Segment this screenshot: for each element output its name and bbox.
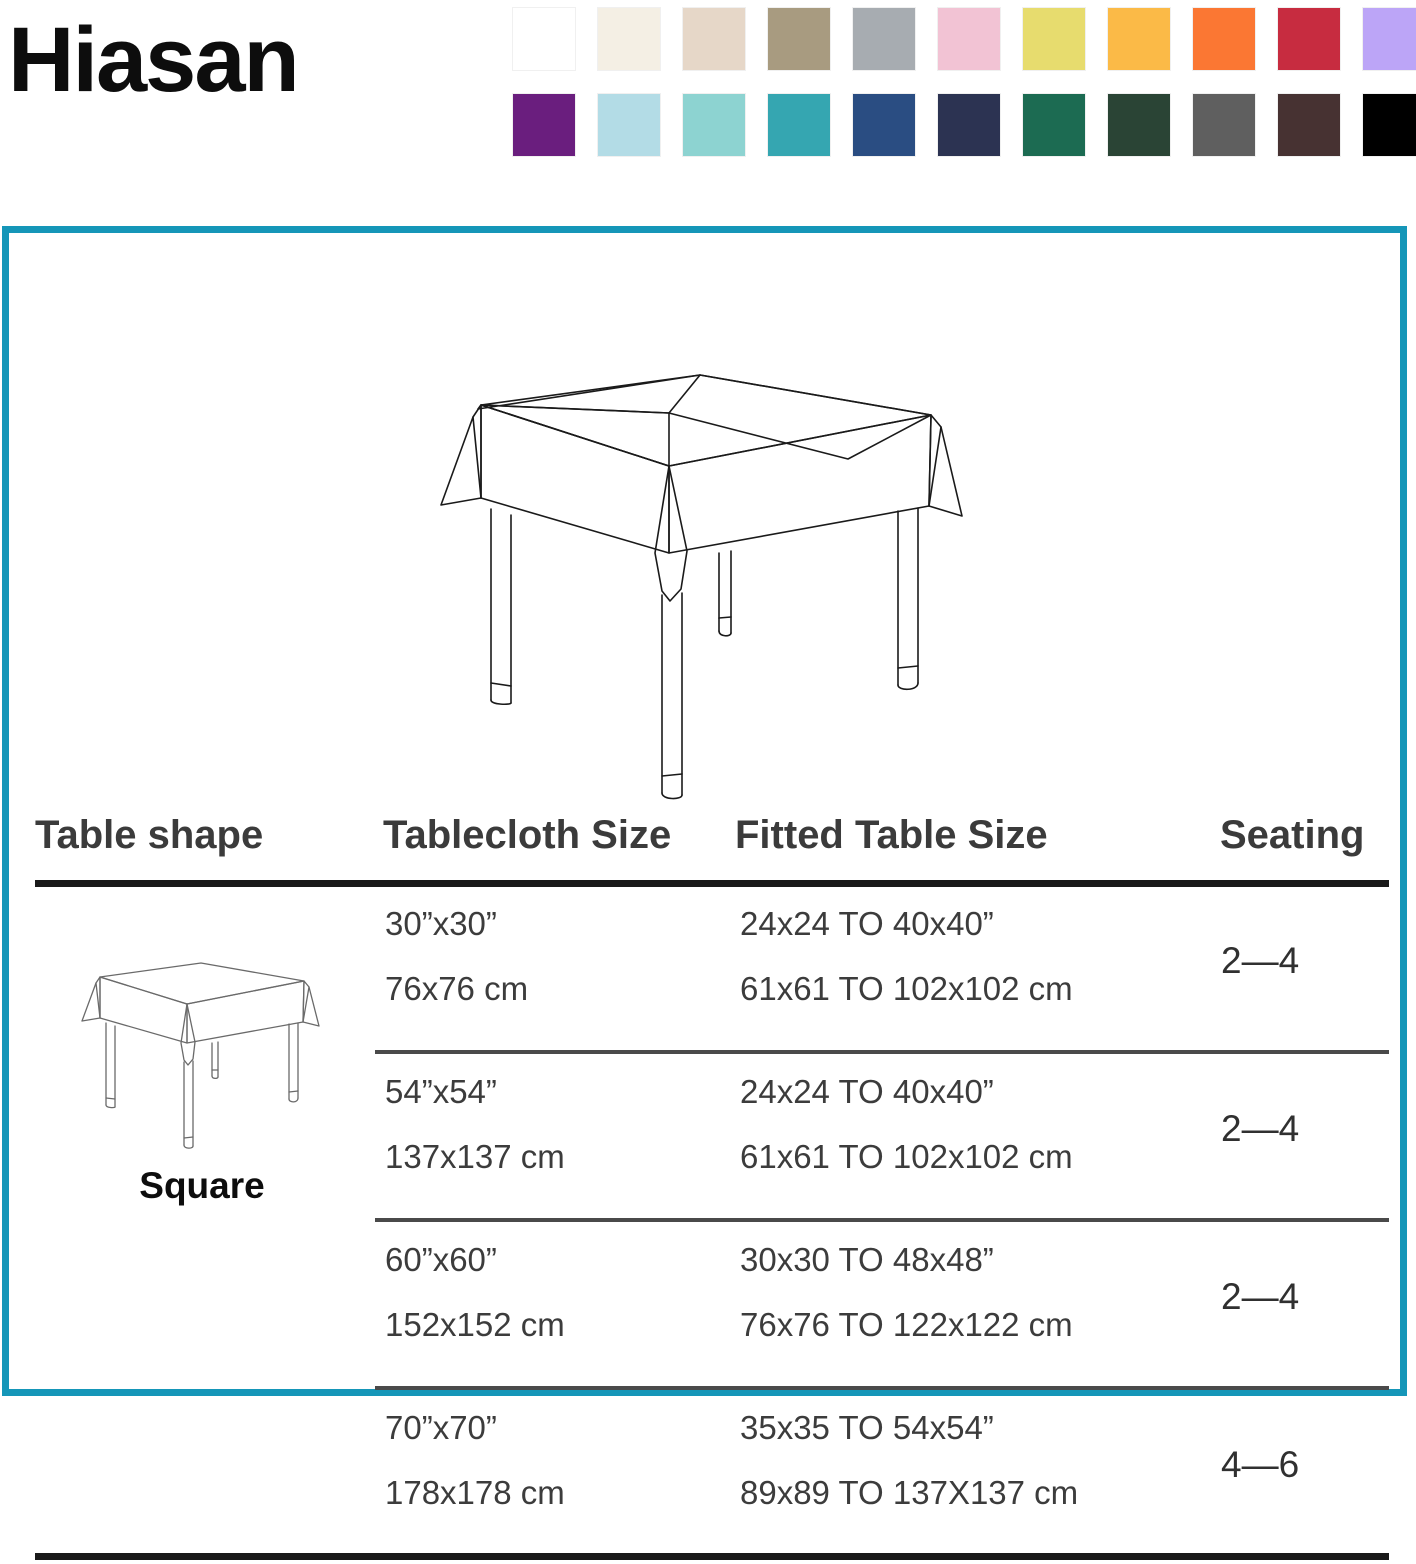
color-swatch-grid: [513, 8, 1393, 180]
table-row: 30”x30” 76x76 cm 24x24 TO 40x40” 61x61 T…: [35, 895, 1389, 1060]
specification-table: Table shape Tablecloth Size Fitted Table…: [35, 813, 1385, 875]
header-divider: [35, 880, 1389, 887]
table-row: 70”x70” 178x178 cm 35x35 TO 54x54” 89x89…: [35, 1399, 1389, 1564]
table-row: 54”x54” 137x137 cm 24x24 TO 40x40” 61x61…: [35, 1063, 1389, 1228]
table-header-row: Table shape Tablecloth Size Fitted Table…: [35, 813, 1385, 875]
cell-fitted-cm: 76x76 TO 122x122 cm: [740, 1306, 1073, 1344]
swatch-amber[interactable]: [1108, 8, 1170, 70]
cell-cloth-inches: 54”x54”: [385, 1073, 497, 1111]
header-fitted-table-size: Fitted Table Size: [735, 813, 1048, 858]
footer-divider: [35, 1553, 1389, 1560]
swatch-row-2: [513, 94, 1393, 156]
swatch-row-1: [513, 8, 1393, 70]
swatch-blue[interactable]: [853, 94, 915, 156]
cell-cloth-cm: 178x178 cm: [385, 1474, 565, 1512]
header-seating: Seating: [1220, 813, 1364, 858]
cell-cloth-inches: 70”x70”: [385, 1409, 497, 1447]
cell-seating: 2—4: [1221, 940, 1299, 982]
info-panel: Table shape Tablecloth Size Fitted Table…: [2, 226, 1407, 1396]
header-tablecloth-size: Tablecloth Size: [383, 813, 671, 858]
swatch-lavender[interactable]: [1363, 8, 1416, 70]
swatch-red[interactable]: [1278, 8, 1340, 70]
swatch-purple[interactable]: [513, 94, 575, 156]
cell-cloth-cm: 76x76 cm: [385, 970, 528, 1008]
swatch-aqua[interactable]: [683, 94, 745, 156]
swatch-forest[interactable]: [1108, 94, 1170, 156]
cell-fitted-inches: 24x24 TO 40x40”: [740, 905, 994, 943]
cell-fitted-inches: 24x24 TO 40x40”: [740, 1073, 994, 1111]
swatch-light-blue[interactable]: [598, 94, 660, 156]
cell-cloth-inches: 60”x60”: [385, 1241, 497, 1279]
swatch-emerald[interactable]: [1023, 94, 1085, 156]
swatch-taupe[interactable]: [768, 8, 830, 70]
swatch-yellow[interactable]: [1023, 8, 1085, 70]
cell-seating: 2—4: [1221, 1276, 1299, 1318]
row-divider: [375, 1218, 1389, 1222]
swatch-turquoise[interactable]: [768, 94, 830, 156]
cell-seating: 4—6: [1221, 1444, 1299, 1486]
cell-fitted-cm: 61x61 TO 102x102 cm: [740, 1138, 1073, 1176]
header-table-shape: Table shape: [35, 813, 263, 858]
cell-fitted-inches: 30x30 TO 48x48”: [740, 1241, 994, 1279]
swatch-dark-brown[interactable]: [1278, 94, 1340, 156]
table-row: 60”x60” 152x152 cm 30x30 TO 48x48” 76x76…: [35, 1231, 1389, 1396]
cell-fitted-cm: 89x89 TO 137X137 cm: [740, 1474, 1078, 1512]
cell-fitted-inches: 35x35 TO 54x54”: [740, 1409, 994, 1447]
swatch-white[interactable]: [513, 8, 575, 70]
cell-seating: 2—4: [1221, 1108, 1299, 1150]
row-divider: [375, 1050, 1389, 1054]
swatch-navy[interactable]: [938, 94, 1000, 156]
brand-logo: Hiasan: [8, 14, 298, 106]
swatch-gray[interactable]: [853, 8, 915, 70]
cell-fitted-cm: 61x61 TO 102x102 cm: [740, 970, 1073, 1008]
row-divider: [375, 1386, 1389, 1390]
cell-cloth-inches: 30”x30”: [385, 905, 497, 943]
table-illustration-icon: [429, 353, 974, 813]
cell-cloth-cm: 137x137 cm: [385, 1138, 565, 1176]
swatch-pink[interactable]: [938, 8, 1000, 70]
swatch-beige[interactable]: [683, 8, 745, 70]
swatch-black[interactable]: [1363, 94, 1416, 156]
swatch-orange[interactable]: [1193, 8, 1255, 70]
swatch-ivory[interactable]: [598, 8, 660, 70]
cell-cloth-cm: 152x152 cm: [385, 1306, 565, 1344]
header-band: Hiasan: [0, 0, 1416, 200]
swatch-dark-gray[interactable]: [1193, 94, 1255, 156]
